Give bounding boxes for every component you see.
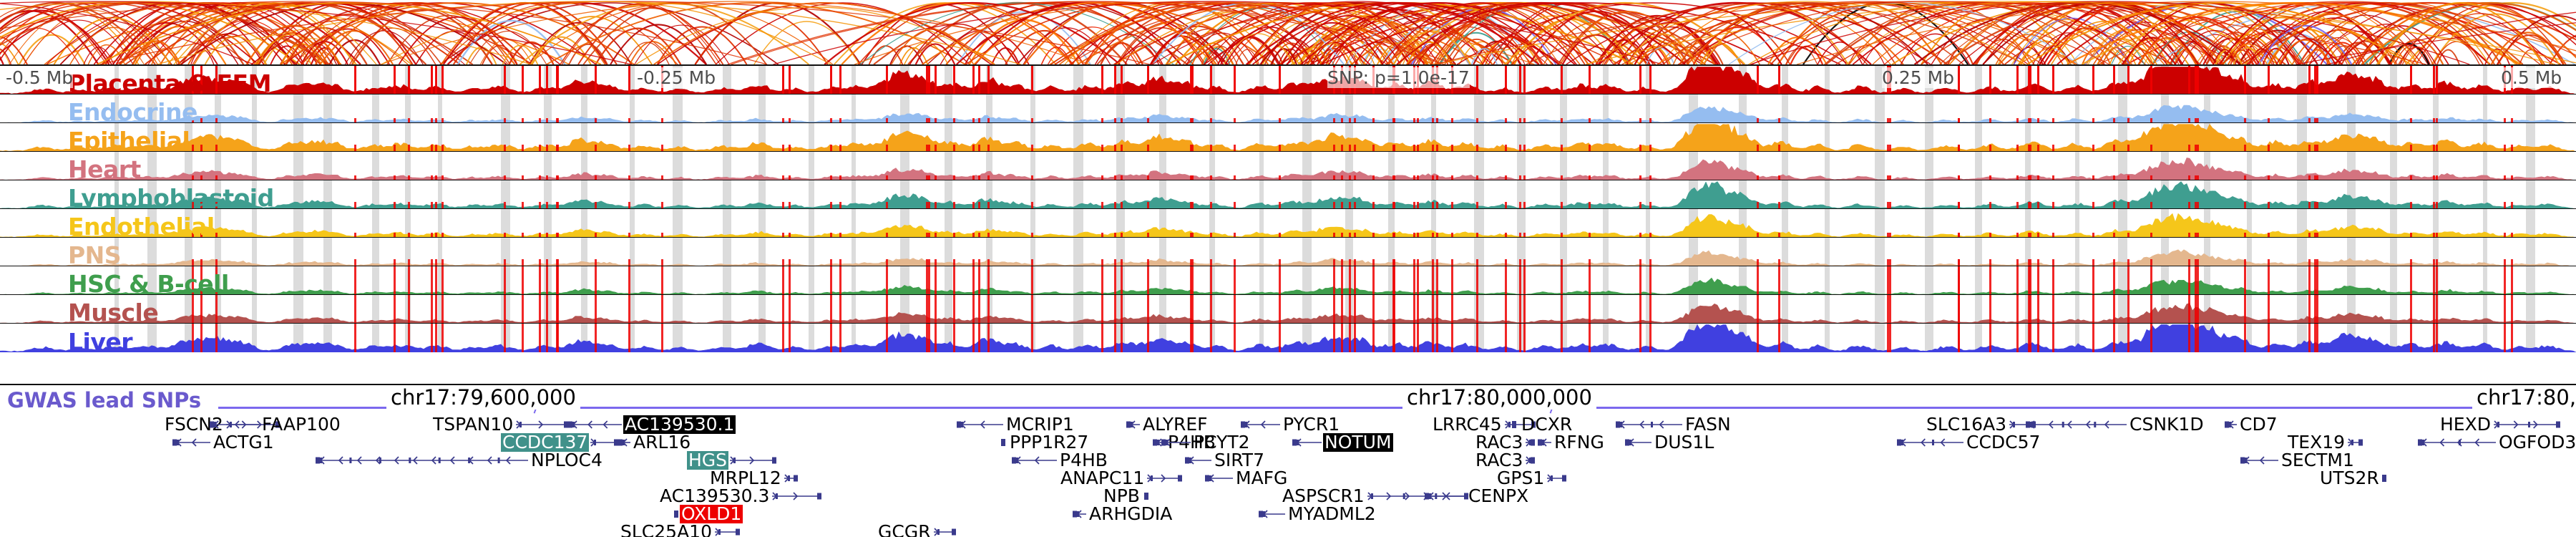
snp-tick [2244, 295, 2246, 324]
snp-tick [972, 266, 975, 295]
snp-tick [1649, 66, 1652, 95]
snp-tick [435, 266, 437, 295]
snp-tick [926, 66, 928, 95]
snp-tick [1989, 295, 1991, 324]
gene-ogfod3[interactable]: OGFOD3 [2417, 433, 2576, 452]
snp-tick [839, 202, 841, 209]
snp-tick [2268, 324, 2270, 352]
snp-tick [1639, 145, 1641, 152]
gene-strand-glyph [1524, 435, 1536, 450]
snp-tick [408, 233, 410, 238]
snp-tick [1757, 118, 1759, 123]
snp-tick [1523, 118, 1526, 123]
snp-tick [2188, 118, 2190, 123]
snp-tick [926, 266, 928, 295]
snp-tick [1505, 295, 1507, 324]
snp-tick [1505, 175, 1507, 180]
snp-tick [1210, 266, 1212, 295]
snp-tick [2127, 324, 2129, 352]
snp-tick [2113, 295, 2115, 324]
snp-tick [782, 324, 784, 352]
snp-tick [441, 145, 444, 152]
snp-tick [2037, 266, 2039, 295]
gene-cd7[interactable]: CD7 [2224, 415, 2279, 434]
snp-tick [2308, 324, 2311, 352]
snp-tick [1519, 266, 1521, 295]
snp-tick [595, 118, 597, 123]
snp-tick [354, 233, 356, 238]
snp-tick [1649, 118, 1652, 123]
snp-tick [2410, 259, 2412, 266]
gene-gcgr[interactable]: GCGR [877, 523, 957, 537]
snp-tick [953, 259, 955, 266]
snp-tick [1191, 259, 1194, 266]
snp-tick [1649, 233, 1652, 238]
track-endothelial[interactable]: Endothelial [0, 209, 2576, 238]
snp-tick [1210, 145, 1212, 152]
snp-tick [1349, 259, 1351, 266]
gene-label: NPLOC4 [530, 451, 604, 470]
snp-tick [408, 202, 410, 209]
gene-ccdc57[interactable]: CCDC57 [1896, 433, 2041, 452]
gene-arl16[interactable]: ARL16 [618, 433, 692, 452]
snp-tick [1561, 266, 1563, 295]
snp-tick [2504, 295, 2506, 324]
snp-tick [886, 145, 888, 152]
snp-tick [2028, 118, 2030, 123]
snp-tick [435, 118, 437, 123]
snp-tick [1333, 266, 1335, 295]
snp-tick [200, 324, 203, 352]
gene-dus1l[interactable]: DUS1L [1624, 433, 1715, 452]
snp-tick [987, 66, 990, 95]
snp-tick [661, 324, 663, 352]
snp-tick [661, 175, 663, 180]
snp-tick [1889, 266, 1891, 295]
snp-tick [522, 259, 524, 266]
snp-tick [926, 145, 928, 152]
snp-tick [1989, 259, 1991, 266]
snp-tick [789, 266, 791, 295]
snp-tick [1417, 266, 1419, 295]
gene-arhgdia[interactable]: ARHGDIA [1072, 505, 1174, 523]
track-hsc-bcell[interactable]: HSC & B-cell [0, 266, 2576, 295]
snp-tick [1372, 175, 1375, 180]
gene-strand-glyph [728, 453, 777, 468]
snp-tick [782, 295, 784, 324]
snp-tick [1393, 118, 1395, 123]
snp-tick [539, 145, 541, 152]
snp-tick [987, 266, 990, 295]
snp-tick [2244, 66, 2246, 95]
snp-tick [1349, 118, 1351, 123]
snp-tick [557, 66, 559, 95]
snp-tick [886, 202, 888, 209]
snp-tick [953, 66, 955, 95]
gene-label: UTS2R [2318, 469, 2381, 488]
gene-label: CENPX [1467, 487, 1530, 505]
snp-tick [1031, 202, 1033, 209]
snp-tick [1476, 145, 1478, 152]
snp-tick [595, 295, 597, 324]
snp-tick [1639, 66, 1641, 95]
snp-tick [546, 175, 548, 180]
snp-tick [926, 175, 928, 180]
snp-tick [978, 266, 980, 295]
snp-tick [1114, 202, 1116, 209]
snp-tick [2316, 66, 2318, 95]
snp-tick [1451, 324, 1453, 352]
snp-tick [1778, 266, 1780, 295]
snp-tick [953, 266, 955, 295]
snp-tick [595, 66, 597, 95]
snp-tick [441, 202, 444, 209]
snp-tick [1889, 145, 1891, 152]
snp-tick [661, 233, 663, 238]
snp-tick [2197, 66, 2199, 95]
gene-strand-glyph [315, 453, 530, 468]
snp-tick [1147, 233, 1149, 238]
snp-tick [886, 324, 888, 352]
snp-tick [1958, 202, 1960, 209]
snp-tick [200, 175, 203, 180]
snp-tick [1476, 295, 1478, 324]
snp-tick [2113, 145, 2115, 152]
snp-tick [978, 66, 980, 95]
snp-tick [2433, 202, 2435, 209]
snp-tick [441, 259, 444, 266]
snp-tick [935, 295, 937, 324]
snp-tick [1417, 145, 1419, 152]
snp-tick [2188, 266, 2190, 295]
snp-tick [1436, 324, 1438, 352]
snp-tick [953, 233, 955, 238]
snp-tick [1114, 66, 1116, 95]
snp-tick [1101, 295, 1103, 324]
snp-tick [546, 259, 548, 266]
track-liver[interactable]: Liver [0, 324, 2576, 352]
snp-tick [1354, 145, 1356, 152]
snp-tick [972, 202, 975, 209]
snp-tick [2410, 233, 2412, 238]
snp-tick [200, 202, 203, 209]
snp-tick [441, 266, 444, 295]
snp-tick [1354, 233, 1356, 238]
snp-tick [1757, 259, 1759, 266]
gene-notum[interactable]: NOTUM [1292, 433, 1393, 452]
gene-strand-glyph [2025, 417, 2128, 432]
snp-tick [200, 259, 203, 266]
snp-tick [2436, 145, 2438, 152]
snp-tick [2410, 118, 2412, 123]
snp-tick [926, 118, 928, 123]
gene-label: HEXD [2439, 415, 2492, 434]
snp-tick [2037, 145, 2039, 152]
gene-strand-glyph [1204, 471, 1234, 485]
snp-tick [200, 118, 203, 123]
snp-tick [1589, 145, 1591, 152]
snp-tick [2316, 202, 2318, 209]
snp-tick [2016, 118, 2019, 123]
snp-tick [1031, 324, 1033, 352]
snp-tick [1114, 175, 1116, 180]
snp-tick [1436, 259, 1438, 266]
snp-tick [1778, 324, 1780, 352]
snp-tick [886, 259, 888, 266]
snp-tick [1279, 145, 1281, 152]
snp-tick [546, 66, 548, 95]
snp-tick [1476, 202, 1478, 209]
gene-strand-glyph [589, 435, 619, 450]
gene-mafg[interactable]: MAFG [1204, 469, 1289, 488]
snp-tick [935, 202, 937, 209]
snp-tick [2436, 324, 2438, 352]
snp-tick [1476, 259, 1478, 266]
snp-tick [1778, 233, 1780, 238]
snp-tick [1372, 145, 1375, 152]
snp-tick [1393, 145, 1395, 152]
gene-nploc4[interactable]: NPLOC4 [315, 451, 604, 470]
gwas-lead-snps-label: GWAS lead SNPs [7, 388, 201, 412]
snp-tick [408, 118, 410, 123]
snp-tick [2188, 233, 2190, 238]
ruler-tick-label: 0.5 Mb [2501, 67, 2562, 88]
track-heart[interactable]: Heart [0, 152, 2576, 180]
snp-tick [2436, 66, 2438, 95]
snp-tick [1523, 259, 1526, 266]
snp-tick [2433, 118, 2435, 123]
snp-tick [2052, 266, 2054, 295]
snp-tick [1101, 175, 1103, 180]
snp-tick [2268, 295, 2270, 324]
snp-tick [192, 175, 194, 180]
snp-tick [628, 202, 630, 209]
snp-tick [215, 295, 218, 324]
snp-tick [557, 202, 559, 209]
snp-tick [1349, 324, 1351, 352]
gene-actg1[interactable]: ACTG1 [172, 433, 275, 452]
snp-tick [2436, 266, 2438, 295]
snp-tick [1279, 266, 1281, 295]
snp-tick [2092, 233, 2094, 238]
snp-tick [926, 202, 928, 209]
snp-tick [1341, 324, 1343, 352]
snp-tick [978, 295, 980, 324]
snp-tick [2028, 233, 2030, 238]
snp-tick [2127, 118, 2129, 123]
snp-tick [557, 259, 559, 266]
snp-tick [2244, 266, 2246, 295]
snp-tick [394, 295, 396, 324]
snp-tick [595, 324, 597, 352]
snp-tick [972, 118, 975, 123]
snp-tick [215, 66, 218, 95]
snp-tick [628, 259, 630, 266]
snp-tick [2308, 175, 2311, 180]
snp-tick [789, 175, 791, 180]
snp-tick [1649, 202, 1652, 209]
snp-tick [1121, 295, 1123, 324]
snp-tick [1101, 118, 1103, 123]
snp-tick [1147, 266, 1149, 295]
snp-tick [2150, 324, 2152, 352]
snp-tick [1031, 266, 1033, 295]
snp-tick [2197, 324, 2199, 352]
snp-tick [2436, 295, 2438, 324]
snp-tick [2150, 259, 2152, 266]
snp-tick [1989, 118, 1991, 123]
snp-tick [928, 233, 930, 238]
snp-tick [408, 324, 410, 352]
gene-strand-glyph [2417, 435, 2497, 450]
snp-tick [215, 118, 218, 123]
gene-label: ACTG1 [212, 433, 275, 452]
snp-tick [1121, 66, 1123, 95]
snp-tick [972, 233, 975, 238]
snp-tick [1523, 66, 1526, 95]
snp-tick [1476, 233, 1478, 238]
snp-tick [978, 259, 980, 266]
snp-tick [2433, 233, 2435, 238]
gene-strand-glyph [567, 417, 623, 432]
track-endocrine[interactable]: Endocrine [0, 95, 2576, 123]
snp-tick [522, 295, 524, 324]
snp-tick [1639, 295, 1641, 324]
snp-tick [1234, 66, 1236, 95]
snp-tick [1234, 324, 1236, 352]
snp-tick [1341, 259, 1343, 266]
snp-tick [1432, 202, 1434, 209]
snp-tick [1349, 233, 1351, 238]
snp-tick [394, 175, 396, 180]
gene-slc25a10[interactable]: SLC25A10 [619, 523, 741, 537]
snp-tick [2188, 145, 2190, 152]
snp-tick [2016, 295, 2019, 324]
snp-tick [1436, 266, 1438, 295]
snp-tick [2092, 266, 2094, 295]
track-epithelial[interactable]: Epithelial [0, 123, 2576, 152]
snp-tick [978, 175, 980, 180]
snp-tick [200, 295, 203, 324]
snp-tick [1147, 118, 1149, 123]
snp-tick [1519, 66, 1521, 95]
snp-tick [2410, 295, 2412, 324]
snp-tick [1393, 295, 1395, 324]
snp-tick [1519, 145, 1521, 152]
snp-tick [2037, 66, 2039, 95]
snp-tick [215, 266, 218, 295]
snp-tick [1989, 175, 1991, 180]
snp-tick [1417, 118, 1419, 123]
snp-tick [1413, 324, 1415, 352]
snp-tick [2188, 66, 2190, 95]
gene-strand-glyph [2240, 453, 2280, 468]
gene-strand-glyph [1072, 507, 1088, 521]
track-muscle[interactable]: Muscle [0, 295, 2576, 324]
gene-rfng[interactable]: RFNG [1537, 433, 1606, 452]
snp-tick [2268, 259, 2270, 266]
snp-tick [2127, 233, 2129, 238]
snp-tick [1523, 175, 1526, 180]
snp-tick [2150, 66, 2152, 95]
snp-tick [1372, 266, 1375, 295]
snp-tick [408, 266, 410, 295]
snp-tick [2150, 266, 2152, 295]
gene-label: MYADML2 [1287, 505, 1377, 523]
snp-tick [1589, 266, 1591, 295]
track-lymphoblastoid[interactable]: Lymphoblastoid [0, 180, 2576, 209]
snp-tick [886, 66, 888, 95]
snp-tick [2092, 295, 2094, 324]
track-placenta-eem[interactable]: Placenta & EEM-0.5 Mb-0.25 MbSNP: p=1.0e… [0, 66, 2576, 95]
snp-tick [935, 233, 937, 238]
gene-cenpx[interactable]: CENPX [1424, 487, 1530, 505]
snp-tick [2037, 202, 2039, 209]
snp-tick [522, 145, 524, 152]
snp-tick [1210, 324, 1212, 352]
snp-tick [1234, 118, 1236, 123]
snp-tick [1889, 175, 1891, 180]
snp-tick [192, 259, 194, 266]
snp-tick [394, 324, 396, 352]
gene-uts2r[interactable]: UTS2R [2318, 469, 2388, 488]
snp-tick [441, 66, 444, 95]
gene-row: ACTG1CCDC137ARL16PPP1R27P4HBPCYT2NOTUMRA… [0, 433, 2576, 452]
snp-tick [2188, 259, 2190, 266]
snp-tick [972, 324, 975, 352]
snp-tick [987, 175, 990, 180]
snp-tick [2016, 66, 2019, 95]
gene-label: NOTUM [1323, 433, 1393, 452]
snp-tick [2113, 324, 2115, 352]
snp-tick [1561, 202, 1563, 209]
snp-tick [1639, 259, 1641, 266]
snp-tick [1393, 259, 1395, 266]
snp-tick [2244, 118, 2246, 123]
gene-label: MAFG [1234, 469, 1289, 488]
snp-tick [1031, 175, 1033, 180]
snp-tick [2092, 66, 2094, 95]
track-pns[interactable]: PNS [0, 238, 2576, 266]
snp-tick [782, 233, 784, 238]
gene-strand-glyph [1141, 489, 1151, 503]
snp-tick [1989, 145, 1991, 152]
snp-tick [1191, 266, 1194, 295]
gene-csnk1d[interactable]: CSNK1D [2025, 415, 2205, 434]
snp-tick [522, 66, 524, 95]
snp-tick [1505, 145, 1507, 152]
snp-tick [1649, 259, 1652, 266]
snp-tick [928, 266, 930, 295]
snp-tick [1451, 175, 1453, 180]
snp-tick [2244, 175, 2246, 180]
snp-tick [1191, 66, 1194, 95]
snp-tick [2316, 175, 2318, 180]
snp-tick [1413, 202, 1415, 209]
snp-tick [1147, 175, 1149, 180]
snp-tick [2244, 233, 2246, 238]
snp-tick [839, 259, 841, 266]
gene-myadml2[interactable]: MYADML2 [1258, 505, 1377, 523]
snp-tick [1432, 145, 1434, 152]
snp-tick [1432, 259, 1434, 266]
snp-tick [2410, 324, 2412, 352]
snp-tick [546, 145, 548, 152]
snp-tick [1639, 175, 1641, 180]
snp-tick [1349, 202, 1351, 209]
snp-tick [1451, 295, 1453, 324]
snp-tick [1101, 145, 1103, 152]
